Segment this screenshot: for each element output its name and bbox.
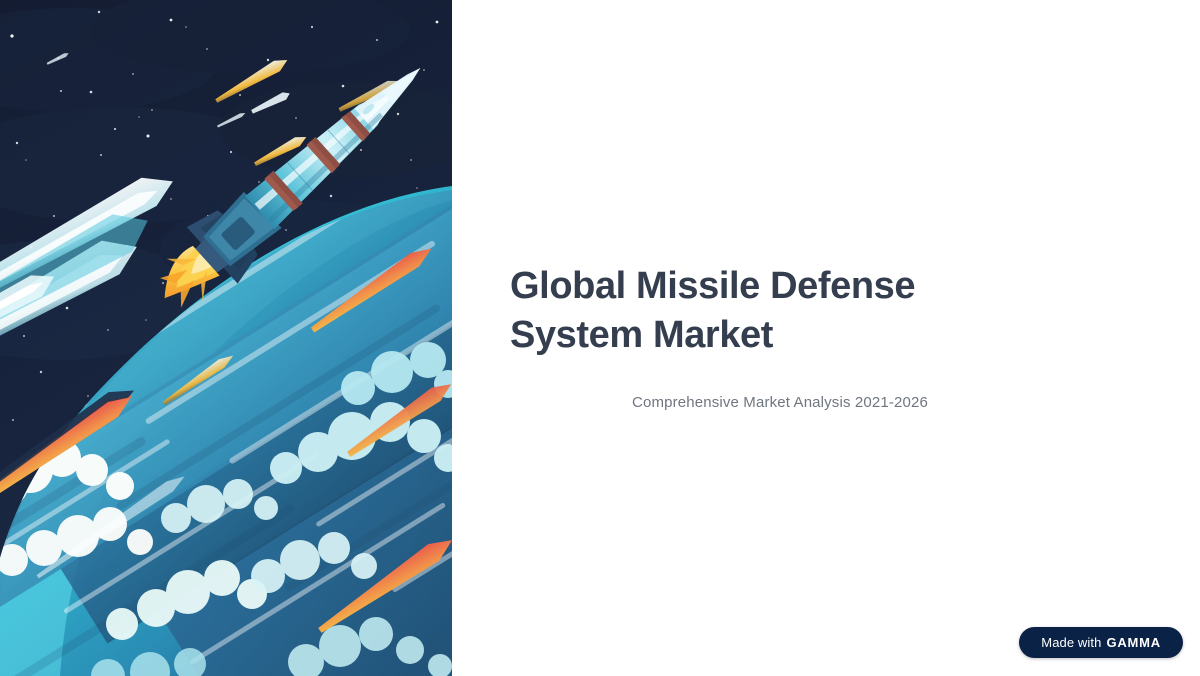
badge-brand-label: GAMMA (1106, 635, 1161, 650)
presentation-slide: Global Missile Defense System Market Com… (0, 0, 1200, 676)
hero-illustration-panel (0, 0, 452, 676)
made-with-gamma-badge[interactable]: Made with GAMMA (1019, 627, 1183, 658)
page-subtitle: Comprehensive Market Analysis 2021-2026 (510, 360, 1050, 414)
badge-prefix-label: Made with (1041, 635, 1101, 650)
missile-launch-illustration (0, 0, 452, 676)
title-block: Global Missile Defense System Market Com… (510, 262, 1050, 414)
page-title: Global Missile Defense System Market (510, 262, 1050, 360)
slide-content-panel: Global Missile Defense System Market Com… (452, 0, 1200, 676)
